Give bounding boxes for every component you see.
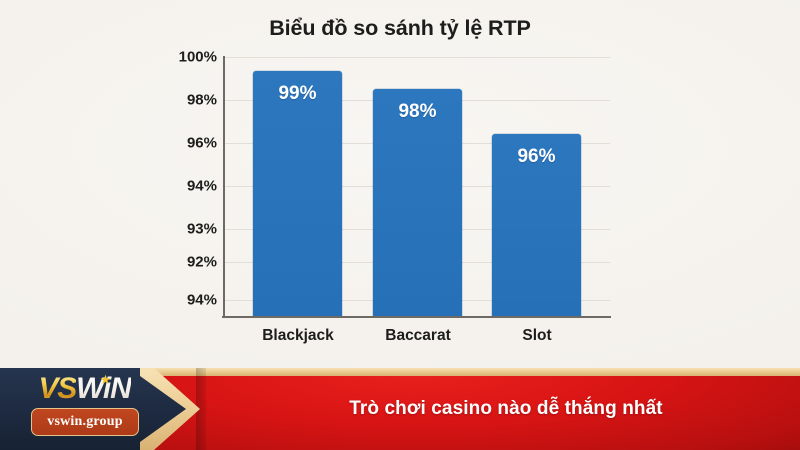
bar-value-label: 96% [492, 146, 581, 168]
logo-text-vs: VS [38, 372, 76, 405]
gridline [223, 57, 610, 58]
x-tick-label-baccarat: Baccarat [353, 327, 483, 345]
y-tick-label: 93% [163, 221, 217, 238]
bar-blackjack[interactable]: 99% [253, 71, 342, 316]
y-axis-line [223, 56, 225, 317]
bar-baccarat[interactable]: 98% [373, 89, 462, 316]
y-tick-label: 100% [163, 49, 217, 66]
y-tick-label: 96% [163, 135, 217, 152]
bar-slot[interactable]: 96% [492, 134, 581, 316]
banner-tagline: Trò chơi casino nào dễ thắng nhất [212, 368, 800, 450]
bar-value-label: 98% [373, 101, 462, 123]
site-url-badge[interactable]: vswin.group [31, 408, 139, 436]
brand-logo[interactable]: VSWiN ★ vswin.group [22, 372, 147, 446]
star-icon: ★ [99, 373, 112, 386]
plot-area: 99% 98% 96% [223, 57, 610, 316]
y-tick-label: 98% [163, 92, 217, 109]
x-axis-line [222, 316, 611, 318]
logo-wordmark: VSWiN [22, 372, 147, 406]
chart-title: Biểu đồ so sánh tỷ lệ RTP [0, 16, 800, 41]
y-tick-label: 92% [163, 254, 217, 271]
x-tick-label-slot: Slot [472, 327, 602, 345]
bar-value-label: 99% [253, 83, 342, 105]
y-tick-label: 94% [163, 178, 217, 195]
chart-region: Biểu đồ so sánh tỷ lệ RTP 100% 98% 96% 9… [0, 0, 800, 368]
y-tick-label: 94% [163, 292, 217, 309]
bottom-banner: VSWiN ★ vswin.group Trò chơi casino nào … [0, 368, 800, 450]
screenshot-canvas: Biểu đồ so sánh tỷ lệ RTP 100% 98% 96% 9… [0, 0, 800, 450]
y-axis: 100% 98% 96% 94% 93% 92% 94% [159, 0, 217, 368]
x-tick-label-blackjack: Blackjack [233, 327, 363, 345]
